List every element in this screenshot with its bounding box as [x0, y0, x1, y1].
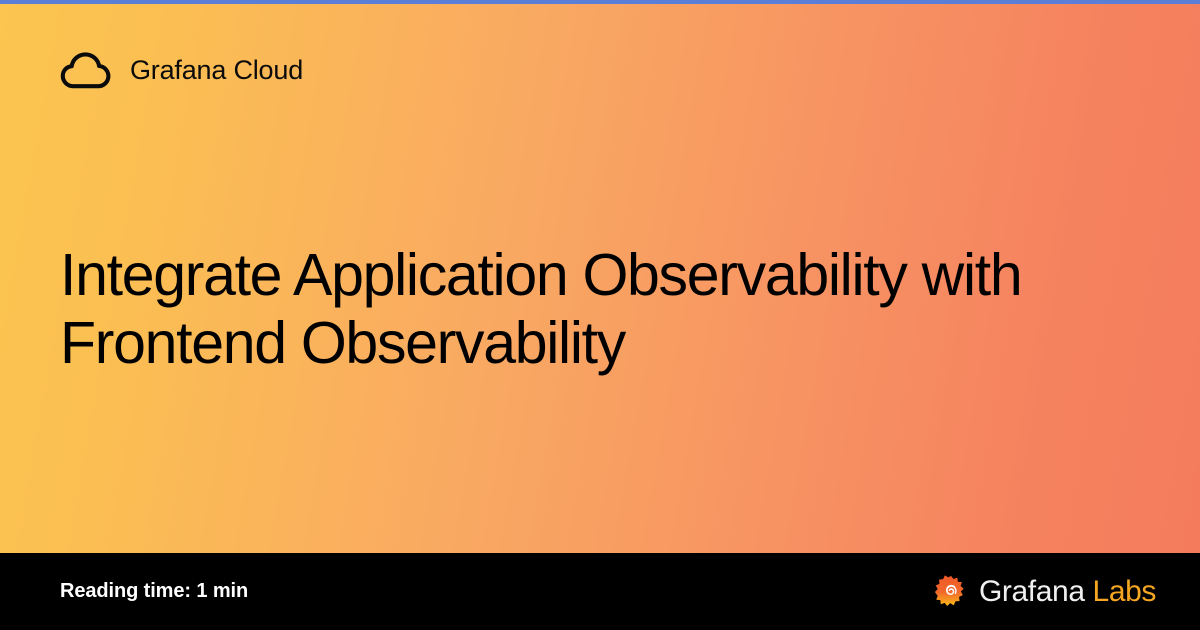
wordmark-grafana: Grafana [979, 575, 1085, 608]
reading-time-label: Reading time: 1 min [60, 580, 248, 603]
page-title: Integrate Application Observability with… [60, 242, 1135, 377]
hero-section: Grafana Cloud Integrate Application Obse… [0, 0, 1200, 553]
title-block: Integrate Application Observability with… [60, 66, 1140, 553]
social-card: Grafana Cloud Integrate Application Obse… [0, 0, 1200, 630]
top-accent-strip [0, 0, 1200, 4]
grafana-labs-wordmark: Grafana Labs [979, 577, 1156, 607]
wordmark-labs: Labs [1085, 575, 1156, 608]
grafana-labs-logo: Grafana Labs [934, 575, 1156, 609]
grafana-logo-icon [934, 575, 968, 609]
footer-bar: Reading time: 1 min Grafana Labs [0, 553, 1200, 630]
